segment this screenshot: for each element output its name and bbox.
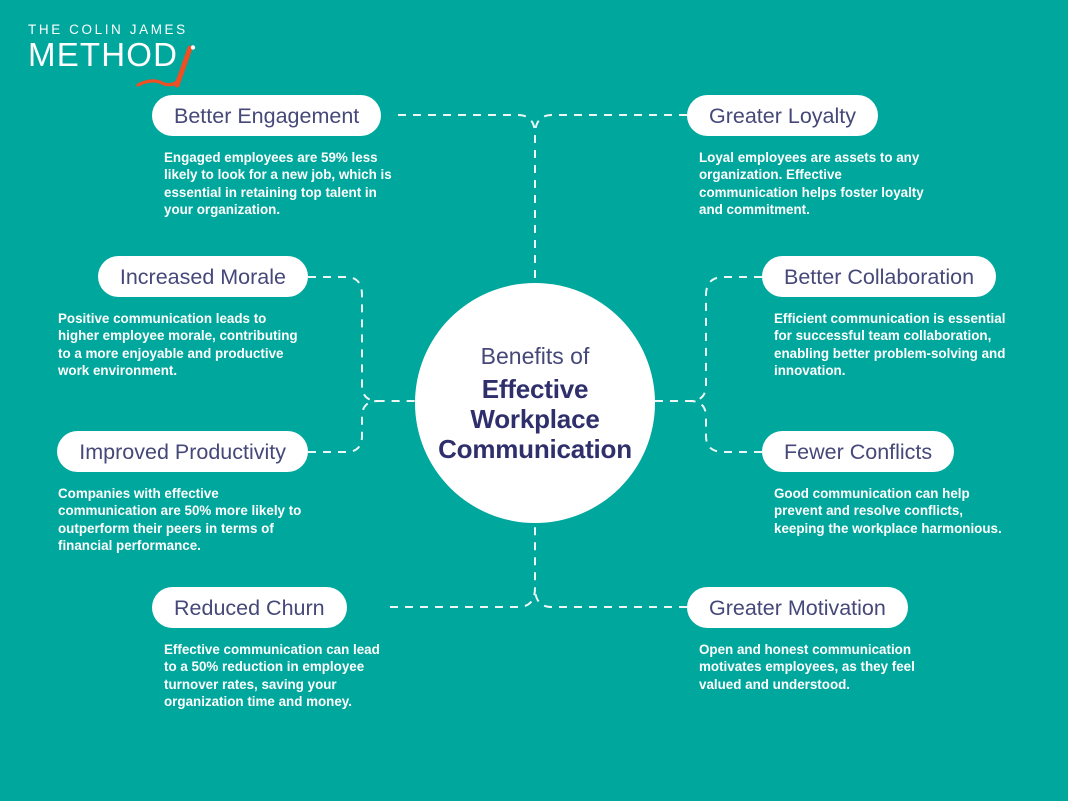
benefit-description: Good communication can help prevent and … bbox=[774, 485, 1014, 537]
benefit-pill-reduced-churn[interactable]: Reduced Churn bbox=[152, 587, 347, 628]
benefit-pill-greater-motivation[interactable]: Greater Motivation bbox=[687, 587, 908, 628]
connector-fewer-conflicts bbox=[690, 401, 762, 452]
infographic-canvas: THE COLIN JAMES METHOD Benefits of Effec… bbox=[0, 0, 1068, 801]
benefit-description: Effective communication can lead to a 50… bbox=[164, 641, 394, 711]
benefit-description: Positive communication leads to higher e… bbox=[58, 310, 308, 380]
benefit-description: Efficient communication is essential for… bbox=[774, 310, 1010, 380]
benefit-description: Loyal employees are assets to any organi… bbox=[699, 149, 939, 219]
center-pre-title: Benefits of bbox=[481, 342, 590, 370]
benefit-label: Better Engagement bbox=[174, 104, 359, 128]
benefit-pill-increased-morale[interactable]: Increased Morale bbox=[98, 256, 308, 297]
benefit-greater-motivation[interactable]: Greater Motivation Open and honest commu… bbox=[687, 587, 928, 693]
connector-better-engagement bbox=[398, 115, 535, 283]
benefit-label: Increased Morale bbox=[120, 265, 286, 289]
benefit-description: Engaged employees are 59% less likely to… bbox=[164, 149, 396, 219]
center-title-line2: Workplace bbox=[438, 404, 632, 434]
center-title: Effective Workplace Communication bbox=[438, 374, 632, 464]
benefit-description: Open and honest communication motivates … bbox=[699, 641, 935, 693]
benefit-label: Better Collaboration bbox=[784, 265, 974, 289]
center-title-line1: Effective bbox=[438, 374, 632, 404]
benefit-improved-productivity[interactable]: Improved Productivity Companies with eff… bbox=[68, 431, 308, 555]
benefit-reduced-churn[interactable]: Reduced Churn Effective communication ca… bbox=[152, 587, 390, 711]
benefit-label: Greater Motivation bbox=[709, 596, 886, 620]
benefit-label: Greater Loyalty bbox=[709, 104, 856, 128]
center-hub: Benefits of Effective Workplace Communic… bbox=[415, 283, 655, 523]
benefit-greater-loyalty[interactable]: Greater Loyalty Loyal employees are asse… bbox=[687, 95, 949, 219]
benefit-fewer-conflicts[interactable]: Fewer Conflicts Good communication can h… bbox=[762, 431, 1016, 537]
benefit-label: Fewer Conflicts bbox=[784, 440, 932, 464]
benefit-pill-improved-productivity[interactable]: Improved Productivity bbox=[57, 431, 308, 472]
connector-greater-motivation bbox=[535, 588, 687, 607]
benefit-pill-better-engagement[interactable]: Better Engagement bbox=[152, 95, 381, 136]
connector-greater-loyalty bbox=[535, 115, 687, 135]
connector-increased-morale bbox=[308, 277, 415, 401]
benefit-pill-fewer-conflicts[interactable]: Fewer Conflicts bbox=[762, 431, 954, 472]
center-title-line3: Communication bbox=[438, 434, 632, 464]
benefit-label: Reduced Churn bbox=[174, 596, 325, 620]
benefit-pill-better-collaboration[interactable]: Better Collaboration bbox=[762, 256, 996, 297]
benefit-better-collaboration[interactable]: Better Collaboration Efficient communica… bbox=[762, 256, 1006, 380]
benefit-label: Improved Productivity bbox=[79, 440, 286, 464]
benefit-description: Companies with effective communication a… bbox=[58, 485, 308, 555]
connector-reduced-churn bbox=[390, 523, 535, 607]
connector-improved-productivity bbox=[308, 401, 378, 452]
connector-better-collaboration bbox=[655, 277, 762, 401]
benefit-increased-morale[interactable]: Increased Morale Positive communication … bbox=[68, 256, 308, 380]
benefit-pill-greater-loyalty[interactable]: Greater Loyalty bbox=[687, 95, 878, 136]
benefit-better-engagement[interactable]: Better Engagement Engaged employees are … bbox=[152, 95, 398, 219]
